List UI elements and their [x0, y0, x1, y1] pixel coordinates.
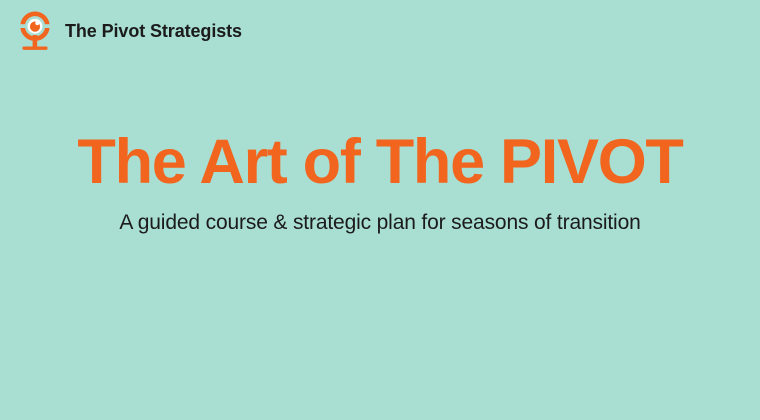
slide-canvas: The Pivot Strategists The Art of The PIV…: [0, 0, 760, 420]
page-subtitle: A guided course & strategic plan for sea…: [0, 210, 760, 236]
brand-logo: [16, 11, 54, 51]
hero-section: The Art of The PIVOT A guided course & s…: [0, 128, 760, 236]
brand-name: The Pivot Strategists: [65, 22, 242, 40]
empty-content-stage: [0, 272, 760, 420]
webcam-eye-logo-icon: [16, 11, 54, 51]
page-title: The Art of The PIVOT: [0, 128, 760, 196]
brand-header: The Pivot Strategists: [16, 11, 242, 51]
